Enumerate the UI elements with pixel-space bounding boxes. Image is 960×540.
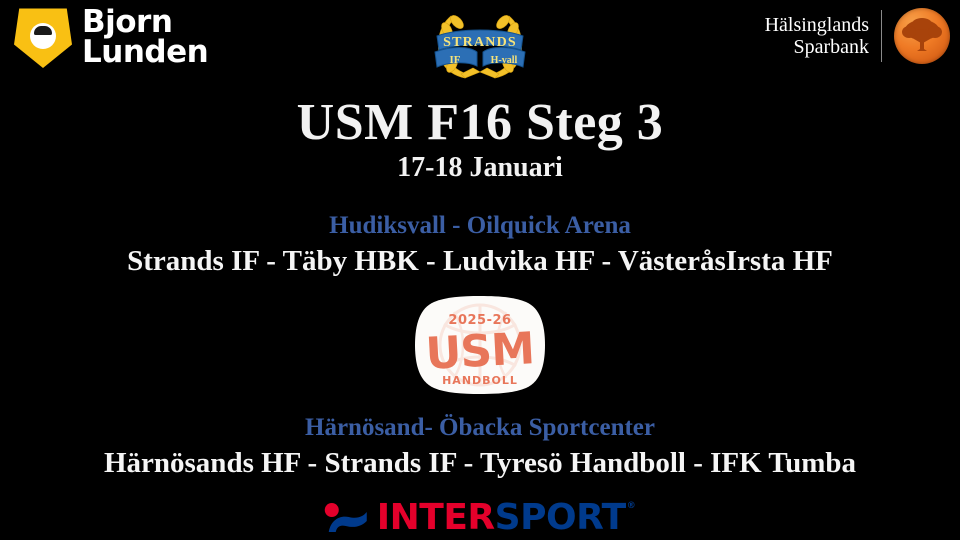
page-subtitle-dates: 17-18 Januari [0,153,960,184]
venue-block-1: Hudiksvall - Oilquick Arena Strands IF -… [0,212,960,278]
svg-text:H-vall: H-vall [491,55,518,66]
poster-root: Bjorn Lunden [0,0,960,540]
bjorn-lunden-line-2: Lunden [82,37,208,67]
usm-title-text: USM [424,323,535,380]
usm-handboll-badge-icon: 2025-26 USM HANDBOLL [414,296,546,394]
halsinglands-sparbank-logo: Hälsinglands Sparbank [765,8,950,64]
sparbank-divider [881,10,882,62]
venue-block-2: Härnösand- Öbacka Sportcenter Härnösands… [0,414,960,480]
svg-text:STRANDS: STRANDS [443,35,517,50]
intersport-figure-icon [325,502,369,534]
usm-subtitle-text: HANDBOLL [442,374,518,387]
headline-block: USM F16 Steg 3 17-18 Januari [0,96,960,184]
intersport-inter-text: INTER [377,500,495,536]
bjorn-lunden-shield-icon [14,6,72,68]
bjorn-lunden-line-1: Bjorn [82,7,208,37]
bjorn-lunden-logo: Bjorn Lunden [14,6,208,68]
page-title: USM F16 Steg 3 [0,96,960,149]
venue-1-name: Hudiksvall - Oilquick Arena [0,212,960,241]
intersport-wordmark: INTERSPORT® [377,500,635,536]
sparbank-line-1: Hälsinglands [765,14,869,36]
intersport-trademark: ® [627,502,636,511]
oak-tree-icon [894,8,950,64]
intersport-logo: INTERSPORT® [325,500,635,536]
sponsor-top-bar: Bjorn Lunden [0,0,960,88]
halsinglands-sparbank-wordmark: Hälsinglands Sparbank [765,14,881,59]
venue-1-teams: Strands IF - Täby HBK - Ludvika HF - Väs… [0,244,960,278]
strands-if-crest-icon: STRANDS IF H-vall [421,4,539,84]
bjorn-lunden-wordmark: Bjorn Lunden [82,7,208,68]
sparbank-line-2: Sparbank [765,36,869,58]
intersport-sport-text: SPORT [495,500,626,536]
svg-text:IF: IF [450,54,461,66]
venue-2-name: Härnösand- Öbacka Sportcenter [0,414,960,443]
venue-2-teams: Härnösands HF - Strands IF - Tyresö Hand… [0,446,960,480]
